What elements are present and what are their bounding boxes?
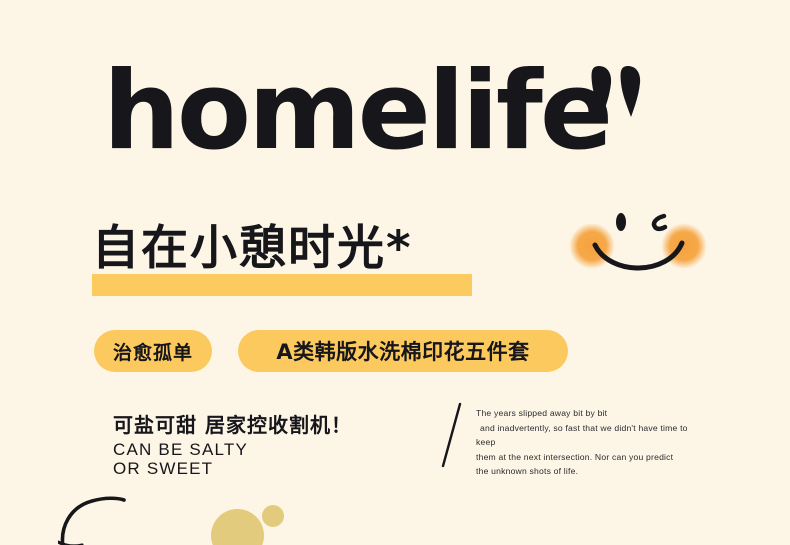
quote-line-3: them at the next intersection. Nor can y… xyxy=(476,450,704,465)
quote-paragraph: The years slipped away bit by bit and in… xyxy=(476,406,704,479)
badge-pill-label: A类韩版水洗棉印花五件套 xyxy=(276,336,529,366)
quote-line-2: and inadvertently, so fast that we didn'… xyxy=(476,421,704,450)
tagline-chinese: 可盐可甜 居家控收割机！ xyxy=(113,409,352,438)
page-title: homelife xyxy=(103,58,610,166)
quote-line-4: the unknown shots of life. xyxy=(476,464,704,479)
curved-stem-arc-icon xyxy=(58,487,148,545)
quote-line-1: The years slipped away bit by bit xyxy=(476,406,704,421)
tagline-english-line-2: OR SWEET xyxy=(113,459,248,478)
diagonal-slash-icon xyxy=(438,402,468,468)
subtitle-block: 自在小憩时光* xyxy=(92,218,413,296)
gold-circle-icon xyxy=(211,509,264,545)
winking-smiley-face-icon xyxy=(568,198,708,286)
tagline-english-line-1: CAN BE SALTY xyxy=(113,440,248,459)
badge-pill-label: 治愈孤单 xyxy=(113,338,193,365)
gold-circle-small-icon xyxy=(262,505,284,527)
tagline-english: CAN BE SALTY OR SWEET xyxy=(113,440,248,478)
badge-pill-healing[interactable]: 治愈孤单 xyxy=(94,330,212,372)
double-quote-icon xyxy=(586,66,646,118)
badge-pill-product[interactable]: A类韩版水洗棉印花五件套 xyxy=(238,330,568,372)
subtitle-text: 自在小憩时光* xyxy=(92,218,413,280)
poster-canvas: homelife 自在小憩时光* xyxy=(0,0,790,545)
